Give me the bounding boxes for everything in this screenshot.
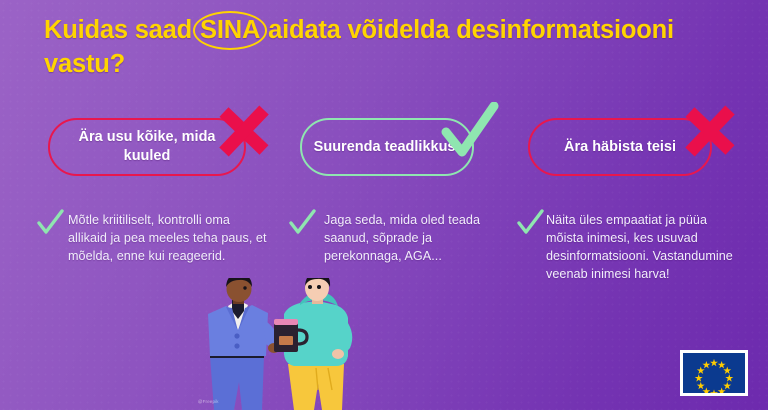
tip-body-text-1: Mõtle kriitiliselt, kontrolli oma allika…: [68, 212, 270, 266]
tip-column-3: Ära häbista teisi Näita üles empaatiat j…: [518, 112, 736, 284]
tip-body-row-1: Mõtle kriitiliselt, kontrolli oma allika…: [38, 212, 270, 266]
check-mark-icon-4: [516, 209, 544, 237]
title-text: Kuidas saadSINAaidata võidelda desinform…: [44, 14, 724, 82]
tip-body-text-2: Jaga seda, mida oled teada saanud, sõpra…: [324, 212, 498, 266]
european-union-flag: [680, 350, 748, 396]
pill-holder-2: Suurenda teadlikkust: [290, 112, 498, 184]
check-mark-icon-3: [288, 209, 316, 237]
image-credit: @Freepik: [198, 399, 219, 404]
tip-column-1: Ära usu kõike, mida kuuled Mõtle kriitil…: [38, 112, 270, 266]
eu-stars-icon: [683, 353, 745, 393]
cross-mark-icon-1: [212, 104, 274, 166]
page-title: Kuidas saadSINAaidata võidelda desinform…: [44, 14, 724, 82]
pill-holder-3: Ära häbista teisi: [518, 112, 736, 184]
slide-canvas: Kuidas saadSINAaidata võidelda desinform…: [0, 0, 768, 410]
check-mark-icon-2: [438, 102, 500, 164]
eu-flag-field: [683, 353, 745, 393]
tip-body-row-3: Näita üles empaatiat ja püüa mõista inim…: [518, 212, 736, 284]
tip-pill-label-3: Ära häbista teisi: [554, 138, 686, 157]
title-highlight-label: SINA: [200, 16, 260, 44]
tip-column-2: Suurenda teadlikkust Jaga seda, mida ole…: [290, 112, 498, 266]
tip-body-row-2: Jaga seda, mida oled teada saanud, sõpra…: [290, 212, 498, 266]
tip-body-text-3: Näita üles empaatiat ja püüa mõista inim…: [546, 212, 736, 284]
check-mark-icon-1: [36, 209, 64, 237]
cross-mark-icon-2: [678, 104, 740, 166]
title-highlight-sina: SINA: [193, 14, 267, 48]
title-part-pre: Kuidas saad: [44, 16, 192, 44]
pill-holder-1: Ära usu kõike, mida kuuled: [38, 112, 270, 184]
tips-columns: Ära usu kõike, mida kuuled Mõtle kriitil…: [0, 112, 768, 402]
